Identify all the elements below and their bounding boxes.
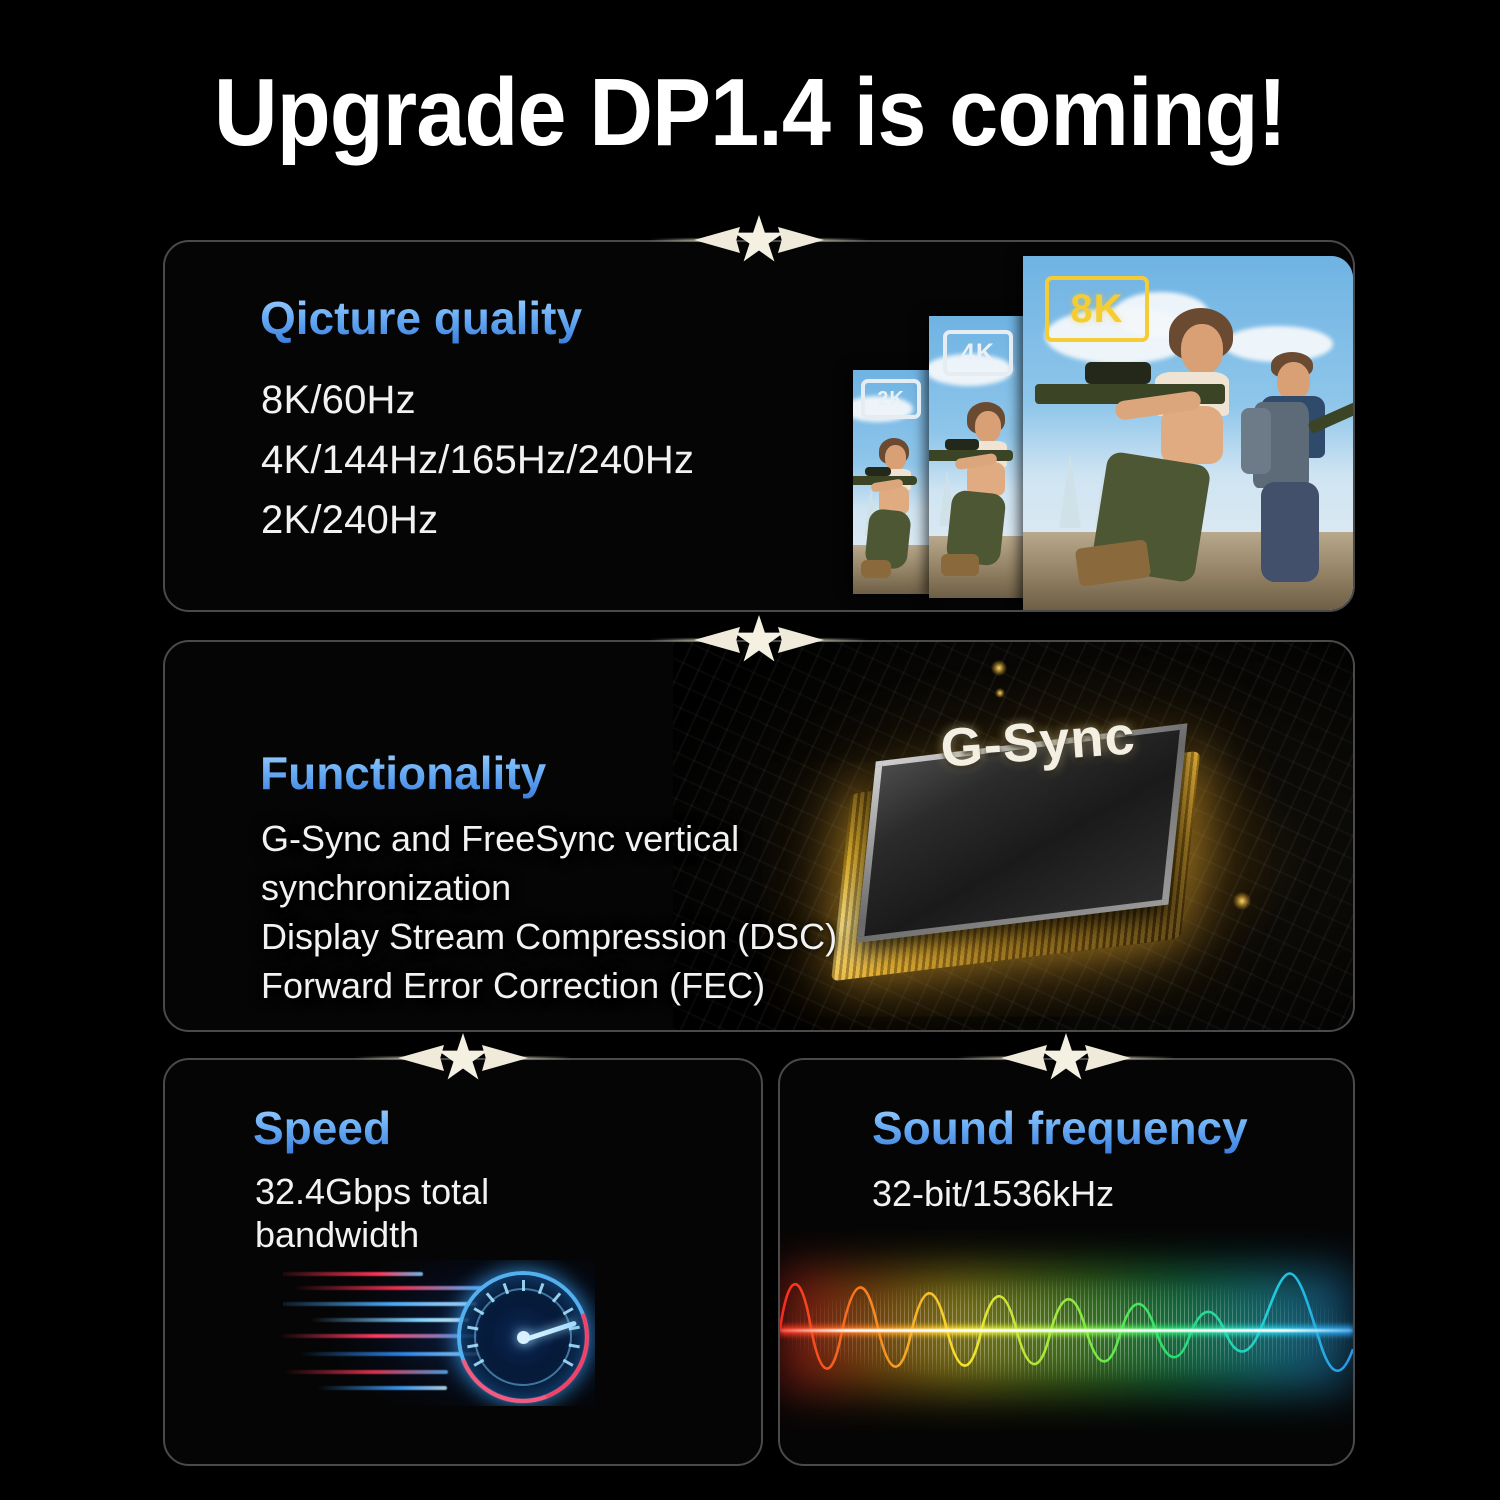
- card-picture-quality: 2K 4K: [163, 240, 1355, 612]
- scope-shape: [865, 467, 891, 476]
- speed-streak: [283, 1272, 423, 1276]
- functionality-specs: G-Sync and FreeSync vertical synchroniza…: [261, 814, 837, 1010]
- game-screens-montage: 2K 4K: [853, 242, 1353, 610]
- speed-streak: [309, 1318, 469, 1322]
- badge-4k: 4K: [943, 330, 1013, 376]
- waveform-core-line: [780, 1329, 1353, 1332]
- head-shape: [1181, 324, 1223, 374]
- picture-quality-heading: Qicture quality: [260, 292, 582, 344]
- spec-line: bandwidth: [255, 1213, 695, 1256]
- card-speed: Speed 32.4Gbps total bandwidth: [163, 1058, 763, 1466]
- card-functionality: G-Sync Functionality G-Sync and FreeSync…: [163, 640, 1355, 1032]
- screen-panel-8k: 8K: [1023, 256, 1353, 610]
- head-shape: [975, 411, 1001, 442]
- spec-line: 32-bit/1536kHz: [872, 1172, 1114, 1216]
- card-speed-inner: Speed 32.4Gbps total bandwidth: [165, 1060, 761, 1464]
- sound-frequency-specs: 32-bit/1536kHz: [872, 1172, 1114, 1216]
- card-functionality-inner: G-Sync Functionality G-Sync and FreeSync…: [165, 642, 1353, 1030]
- gauge-hub: [517, 1331, 530, 1344]
- card-picture-quality-inner: 2K 4K: [165, 242, 1353, 610]
- sound-frequency-heading: Sound frequency: [872, 1102, 1248, 1154]
- boot-shape: [941, 554, 979, 576]
- spec-line: 32.4Gbps total: [255, 1170, 695, 1213]
- spec-line: Forward Error Correction (FEC): [261, 961, 837, 1010]
- legs-shape: [1261, 482, 1319, 582]
- speedometer-gauge-icon: [457, 1271, 589, 1403]
- spark-glow: [1233, 892, 1251, 910]
- scope-shape: [1085, 362, 1151, 384]
- card-sound-frequency: Sound frequency 32-bit/1536kHz: [778, 1058, 1355, 1466]
- badge-2k: 2K: [861, 379, 921, 419]
- speed-streak: [283, 1302, 477, 1306]
- boot-shape: [861, 560, 891, 578]
- audio-waveform-artwork: [780, 1230, 1353, 1430]
- badge-8k: 8K: [1045, 276, 1149, 342]
- scope-shape: [945, 439, 979, 450]
- backpack-shape: [1241, 408, 1271, 474]
- spec-line: 8K/60Hz: [261, 370, 694, 430]
- speed-streak: [283, 1334, 477, 1338]
- head-shape: [1277, 362, 1310, 400]
- spec-line: G-Sync and FreeSync vertical: [261, 814, 837, 863]
- spec-line: 2K/240Hz: [261, 490, 694, 550]
- spec-line: Display Stream Compression (DSC): [261, 912, 837, 961]
- spark-glow: [995, 688, 1005, 698]
- spec-line: 4K/144Hz/165Hz/240Hz: [261, 430, 694, 490]
- gauge-tick: [522, 1280, 525, 1291]
- boot-shape: [1075, 539, 1152, 587]
- character-sniper: [929, 400, 1051, 598]
- spec-line: synchronization: [261, 863, 837, 912]
- speed-streak: [283, 1370, 448, 1374]
- torso-shape: [1161, 406, 1223, 464]
- functionality-heading: Functionality: [260, 747, 546, 799]
- speedometer-artwork: [283, 1260, 595, 1406]
- spark-glow: [991, 660, 1007, 676]
- speed-heading: Speed: [253, 1102, 391, 1154]
- speed-specs: 32.4Gbps total bandwidth: [255, 1170, 695, 1256]
- picture-quality-specs: 8K/60Hz 4K/144Hz/165Hz/240Hz 2K/240Hz: [261, 370, 694, 550]
- character-teammate: [1247, 352, 1353, 602]
- card-sound-frequency-inner: Sound frequency 32-bit/1536kHz: [780, 1060, 1353, 1464]
- speed-streak: [299, 1352, 479, 1356]
- speed-streak: [293, 1286, 483, 1290]
- page-title: Upgrade DP1.4 is coming!: [60, 58, 1440, 168]
- speed-streak: [317, 1386, 447, 1390]
